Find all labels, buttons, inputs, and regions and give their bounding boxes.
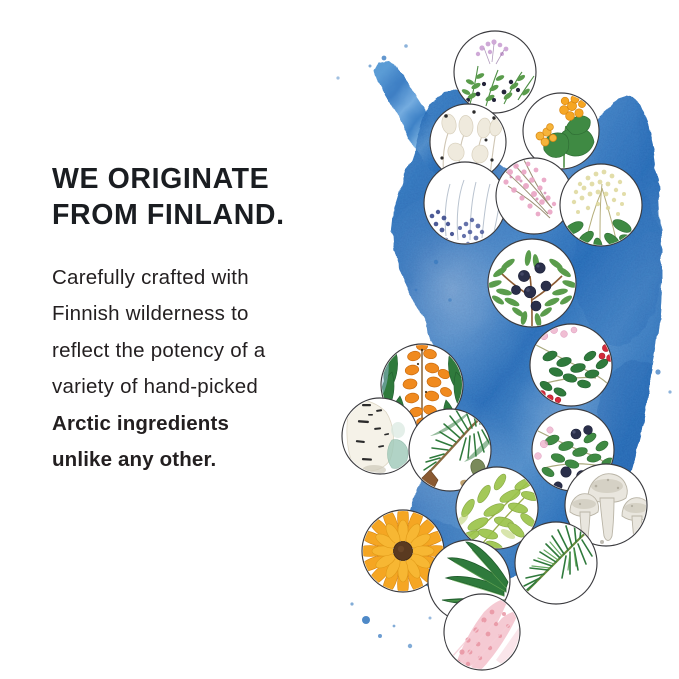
circle-pink-willowherb [444,594,524,674]
body-line-1: Carefully crafted with [52,260,357,296]
body-line-5: Arctic ingredients [52,406,357,442]
body-copy: Carefully crafted with Finnish wildernes… [52,234,357,479]
body-line-2: Finnish wilderness to [52,296,357,332]
text-column: WE ORIGINATE FROM FINLAND. Carefully cra… [52,162,357,479]
circle-heather-crowberry [454,31,536,113]
body-line-3: reflect the potency of a [52,333,357,369]
body-line-6: unlike any other. [52,442,357,478]
body-line-4: variety of hand-picked [52,369,357,405]
headline-line-1: WE ORIGINATE [52,162,357,198]
circle-birch-bark [342,398,418,475]
headline-line-2: FROM FINLAND. [52,198,357,234]
poster-canvas: WE ORIGINATE FROM FINLAND. Carefully cra… [0,0,679,679]
page-title: WE ORIGINATE FROM FINLAND. [52,162,357,234]
finland-map-illustration [318,0,679,679]
